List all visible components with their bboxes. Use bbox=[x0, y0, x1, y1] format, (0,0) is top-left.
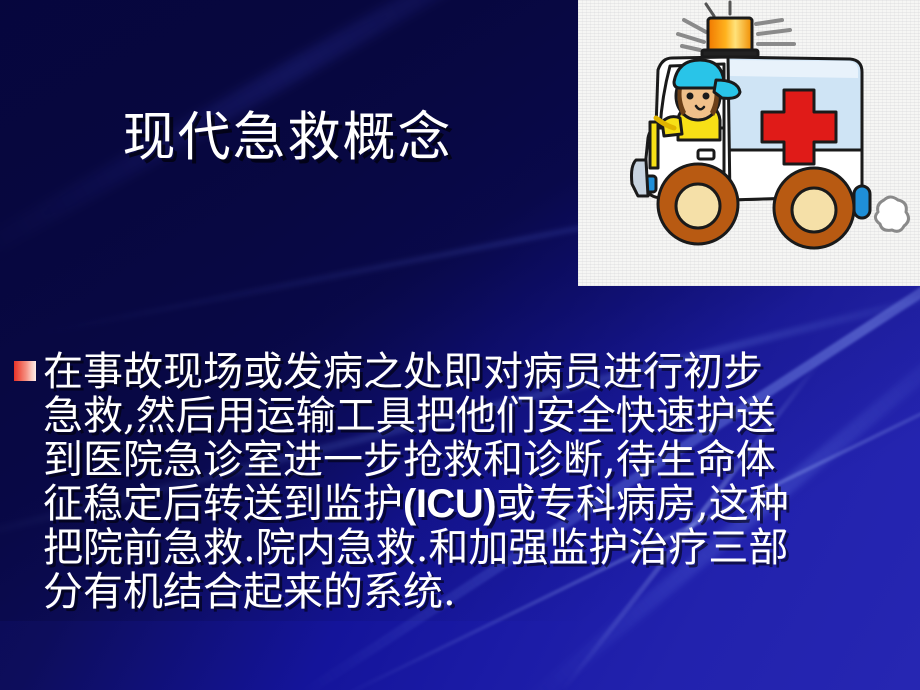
body-line: 把院前急救.院内急救.和加强监护治疗三部 bbox=[43, 526, 814, 570]
body-line: 征稳定后转送到监护(ICU)或专科病房,这种 bbox=[43, 482, 814, 526]
content-body: 在事故现场或发病之处即对病员进行初步 急救,然后用运输工具把他们安全快速护送 到… bbox=[14, 350, 814, 614]
body-line: 分有机结合起来的系统. bbox=[43, 570, 814, 614]
body-line: 在事故现场或发病之处即对病员进行初步 bbox=[43, 350, 814, 394]
presentation-slide: 现代急救概念 bbox=[0, 0, 920, 690]
body-line-before: 征稳定后转送到监护 bbox=[43, 481, 403, 527]
bullet-square-icon bbox=[14, 361, 36, 381]
slide-title: 现代急救概念 bbox=[0, 108, 575, 169]
body-paragraph: 在事故现场或发病之处即对病员进行初步 急救,然后用运输工具把他们安全快速护送 到… bbox=[43, 350, 814, 614]
ambulance-icon bbox=[578, 0, 920, 286]
body-line: 到医院急诊室进一步抢救和诊断,待生命体 bbox=[43, 438, 814, 482]
ambulance-clipart bbox=[578, 0, 920, 286]
body-line-icu: (ICU) bbox=[403, 482, 496, 526]
body-line: 急救,然后用运输工具把他们安全快速护送 bbox=[43, 394, 814, 438]
body-line-after: 或专科病房,这种 bbox=[496, 481, 789, 527]
